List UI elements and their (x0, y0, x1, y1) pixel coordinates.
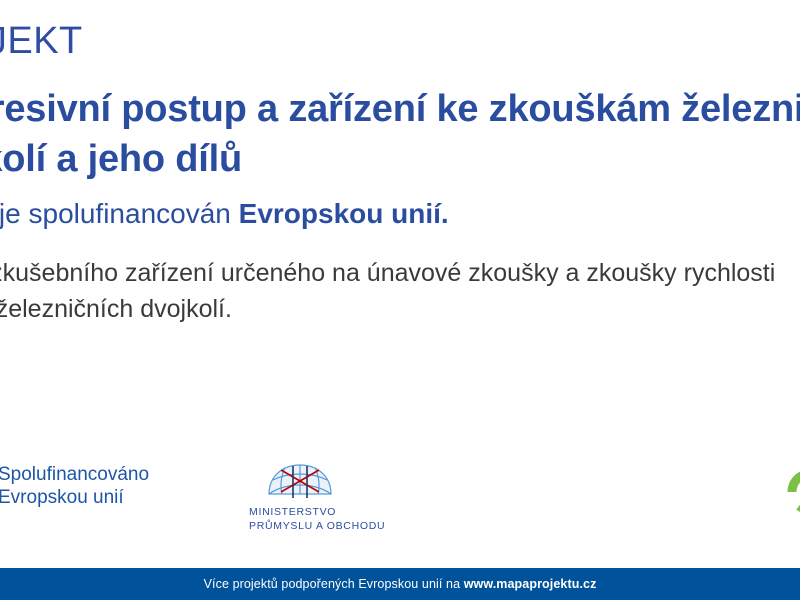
page-title-line-1: Progresivní postup a zařízení ke zkoušká… (0, 88, 800, 130)
ministry-logo: MINISTERSTVO PRŮMYSLU A OBCHODU (249, 458, 399, 533)
project-description-line-1: Výroba zkušebního zařízení určeného na ú… (0, 259, 775, 287)
page-title-line-2: dvojkolí a jeho dílů (0, 134, 800, 184)
eu-emblem-text-line-1: Spolufinancováno (0, 463, 149, 486)
footer-text: Více projektů podpořených Evropskou unií… (204, 577, 597, 591)
footer-text-prefix: Více projektů podpořených Evropskou unií… (204, 577, 464, 591)
ministry-logo-text: MINISTERSTVO PRŮMYSLU A OBCHODU (249, 505, 399, 533)
globe-icon (263, 458, 337, 502)
funding-statement-prefix: Projekt je spolufinancován (0, 198, 239, 229)
logo-strip: Spolufinancováno Evropskou unií (0, 450, 800, 545)
eu-emblem-text: Spolufinancováno Evropskou unií (0, 463, 149, 509)
eu-emblem: Spolufinancováno Evropskou unií (0, 458, 149, 514)
page-eyebrow-projekt: PROJEKT (0, 22, 83, 62)
funding-statement: Projekt je spolufinancován Evropskou uni… (0, 196, 449, 232)
project-description: Výroba zkušebního zařízení určeného na ú… (0, 256, 800, 327)
partner-logo (770, 462, 800, 522)
funding-statement-emphasis: Evropskou unií. (239, 198, 449, 229)
eu-emblem-text-line-2: Evropskou unií (0, 486, 149, 509)
poster-canvas: PROJEKT Progresivní postup a zařízení ke… (0, 0, 800, 600)
project-description-line-2: dvojkolí železničních dvojkolí. (0, 292, 800, 328)
page-title: Progresivní postup a zařízení ke zkoušká… (0, 84, 800, 184)
recycle-arrow-icon (770, 462, 800, 522)
footer-bar: Více projektů podpořených Evropskou unií… (0, 568, 800, 600)
ministry-logo-text-line-1: MINISTERSTVO (249, 505, 399, 519)
footer-url[interactable]: www.mapaprojektu.cz (464, 577, 597, 591)
ministry-logo-text-line-2: PRŮMYSLU A OBCHODU (249, 519, 399, 533)
